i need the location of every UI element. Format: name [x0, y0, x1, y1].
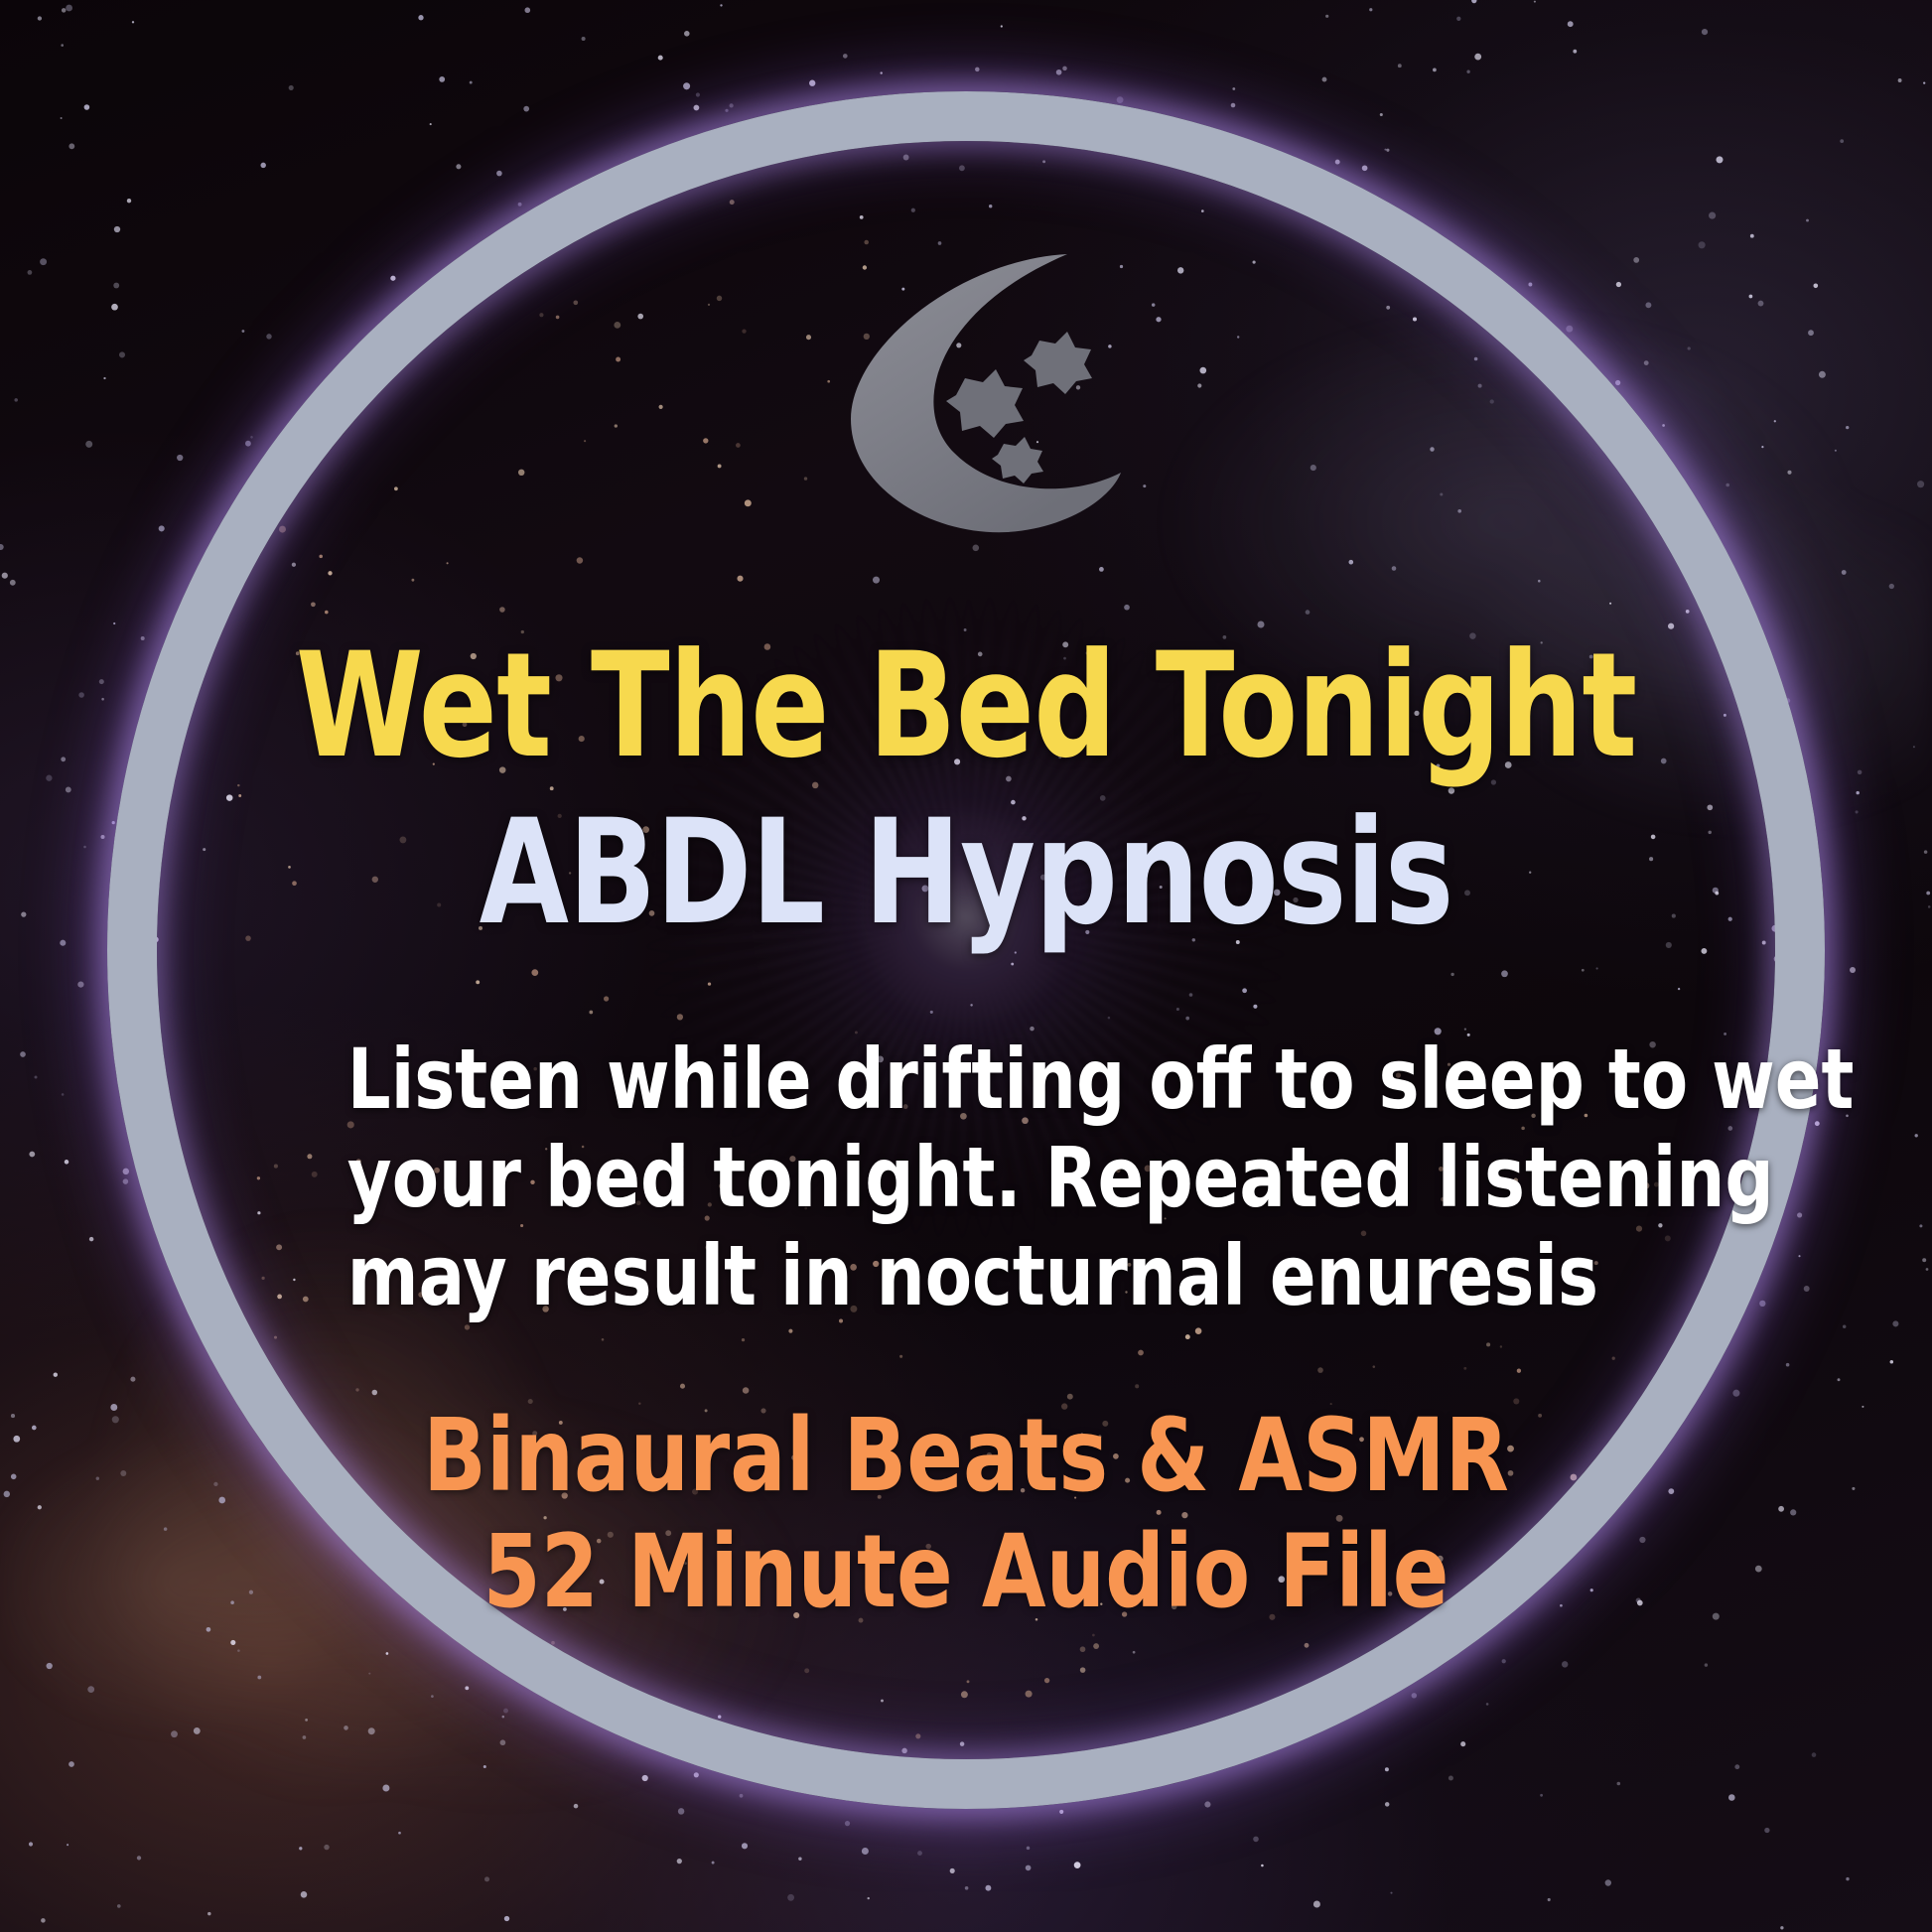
audio-details-block: Binaural Beats & ASMR 52 Minute Audio Fi…: [423, 1399, 1509, 1630]
poster-canvas: Wet The Bed Tonight ABDL Hypnosis Listen…: [0, 0, 1932, 1932]
description-line-1: Listen while drifting off to sleep to we…: [347, 1031, 1585, 1129]
page-subtitle: ABDL Hypnosis: [479, 800, 1452, 945]
audio-features-line: Binaural Beats & ASMR: [423, 1399, 1509, 1514]
description-line-2: your bed tonight. Repeated listening: [347, 1129, 1585, 1227]
audio-duration-line: 52 Minute Audio File: [423, 1515, 1509, 1630]
page-title: Wet The Bed Tonight: [296, 633, 1637, 778]
description-line-3: may result in nocturnal enuresis: [347, 1227, 1585, 1325]
poster-text-content: Wet The Bed Tonight ABDL Hypnosis Listen…: [0, 0, 1932, 1932]
description-block: Listen while drifting off to sleep to we…: [347, 1031, 1585, 1325]
